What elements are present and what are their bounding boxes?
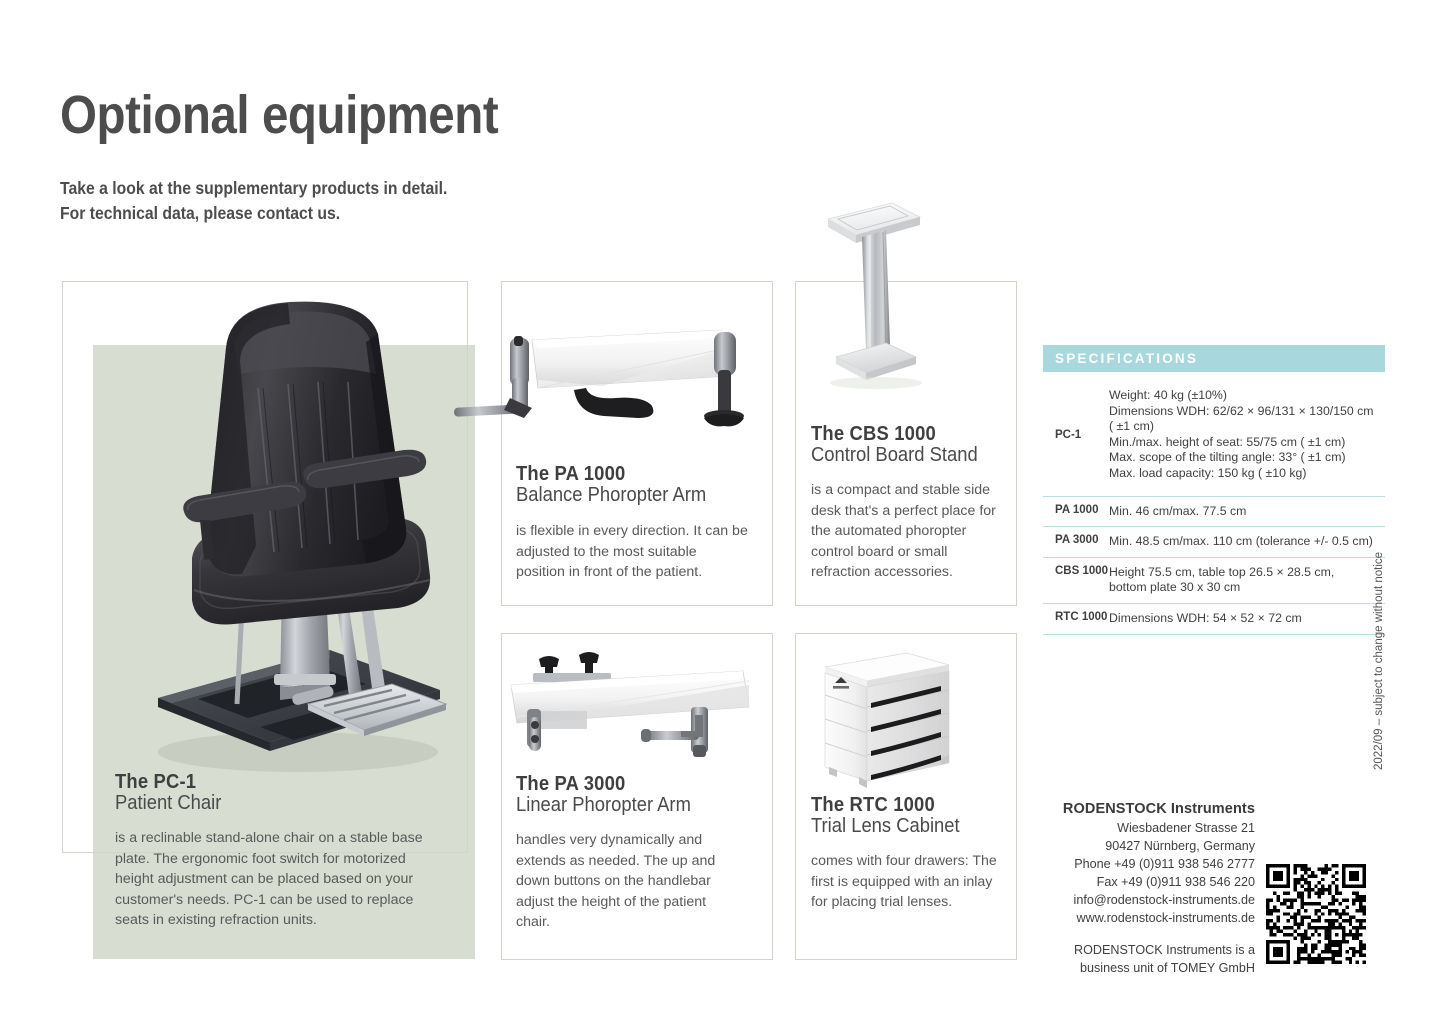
specifications-body: PC-1Weight: 40 kg (±10%)Dimensions WDH: … bbox=[1043, 372, 1385, 635]
spec-row-label: PA 1000 bbox=[1043, 504, 1109, 516]
contact-note-line-1: RODENSTOCK Instruments is a bbox=[1025, 941, 1255, 959]
product-description-pc1: is a reclinable stand-alone chair on a s… bbox=[115, 828, 445, 931]
product-description-cbs1000: is a compact and stable side desk that's… bbox=[811, 480, 1006, 583]
product-name-pa3000: The PA 3000 bbox=[516, 774, 691, 795]
contact-website[interactable]: www.rodenstock-instruments.de bbox=[1025, 909, 1255, 927]
product-subtitle-cbs1000: Control Board Stand bbox=[811, 445, 978, 466]
product-name-pa1000: The PA 1000 bbox=[516, 464, 706, 485]
contact-fax: Fax +49 (0)911 938 546 220 bbox=[1025, 873, 1255, 891]
contact-company: RODENSTOCK Instruments bbox=[1025, 800, 1255, 818]
control-board-stand-image bbox=[800, 197, 1000, 407]
product-title-pa1000: The PA 1000 Balance Phoropter Arm bbox=[516, 464, 706, 506]
spec-row-value: Min. 46 cm/max. 77.5 cm bbox=[1109, 504, 1385, 520]
linear-phoropter-arm-image bbox=[505, 645, 770, 765]
subtitle-line-1: Take a look at the supplementary product… bbox=[60, 176, 447, 201]
spec-row-label: RTC 1000 bbox=[1043, 611, 1109, 623]
spec-row-value: Dimensions WDH: 54 × 52 × 72 cm bbox=[1109, 611, 1385, 627]
spec-row: PA 1000Min. 46 cm/max. 77.5 cm bbox=[1043, 497, 1385, 528]
subtitle-line-2: For technical data, please contact us. bbox=[60, 201, 447, 226]
page-title: Optional equipment bbox=[60, 88, 498, 142]
patient-chair-image bbox=[130, 290, 460, 780]
spec-row-value: Height 75.5 cm, table top 26.5 × 28.5 cm… bbox=[1109, 565, 1385, 596]
spec-row-value: Weight: 40 kg (±10%)Dimensions WDH: 62/6… bbox=[1109, 388, 1385, 482]
spec-row-label: PA 3000 bbox=[1043, 534, 1109, 546]
spec-row-value: Min. 48.5 cm/max. 110 cm (tolerance +/- … bbox=[1109, 534, 1385, 550]
contact-spacer bbox=[1025, 927, 1255, 941]
product-name-pc1: The PC-1 bbox=[115, 772, 221, 793]
product-description-rtc1000: comes with four drawers: The first is eq… bbox=[811, 851, 1003, 913]
spec-row: CBS 1000Height 75.5 cm, table top 26.5 ×… bbox=[1043, 558, 1385, 604]
specifications-table: SPECIFICATIONS PC-1Weight: 40 kg (±10%)D… bbox=[1043, 345, 1385, 635]
product-title-pa3000: The PA 3000 Linear Phoropter Arm bbox=[516, 774, 691, 816]
product-title-cbs1000: The CBS 1000 Control Board Stand bbox=[811, 424, 978, 466]
contact-street: Wiesbadener Strasse 21 bbox=[1025, 819, 1255, 837]
trial-lens-cabinet-image bbox=[815, 645, 965, 790]
product-description-pa3000: handles very dynamically and extends as … bbox=[516, 830, 738, 933]
spec-row: PA 3000Min. 48.5 cm/max. 110 cm (toleran… bbox=[1043, 527, 1385, 558]
qr-code[interactable] bbox=[1266, 864, 1366, 964]
product-description-pa1000: is flexible in every direction. It can b… bbox=[516, 521, 748, 583]
specifications-header: SPECIFICATIONS bbox=[1043, 345, 1385, 372]
product-subtitle-pc1: Patient Chair bbox=[115, 793, 221, 814]
product-name-rtc1000: The RTC 1000 bbox=[811, 795, 960, 816]
product-title-pc1: The PC-1 Patient Chair bbox=[115, 772, 221, 814]
spec-row-label: CBS 1000 bbox=[1043, 565, 1109, 577]
product-subtitle-pa1000: Balance Phoropter Arm bbox=[516, 485, 706, 506]
contact-block: RODENSTOCK Instruments Wiesbadener Stras… bbox=[1025, 800, 1255, 977]
brochure-page: Optional equipment Take a look at the su… bbox=[0, 0, 1445, 1022]
product-subtitle-rtc1000: Trial Lens Cabinet bbox=[811, 816, 960, 837]
product-title-rtc1000: The RTC 1000 Trial Lens Cabinet bbox=[811, 795, 960, 837]
legal-notice: 2022/09 – subject to change without noti… bbox=[1373, 560, 1385, 770]
contact-email[interactable]: info@rodenstock-instruments.de bbox=[1025, 891, 1255, 909]
balance-phoropter-arm-image bbox=[452, 318, 772, 438]
contact-note-line-2: business unit of TOMEY GmbH bbox=[1025, 959, 1255, 977]
page-subtitle: Take a look at the supplementary product… bbox=[60, 176, 447, 226]
spec-row-label: PC-1 bbox=[1043, 429, 1109, 441]
contact-phone: Phone +49 (0)911 938 546 2777 bbox=[1025, 855, 1255, 873]
contact-city: 90427 Nürnberg, Germany bbox=[1025, 837, 1255, 855]
spec-row: PC-1Weight: 40 kg (±10%)Dimensions WDH: … bbox=[1043, 372, 1385, 497]
spec-row: RTC 1000Dimensions WDH: 54 × 52 × 72 cm bbox=[1043, 604, 1385, 635]
product-name-cbs1000: The CBS 1000 bbox=[811, 424, 978, 445]
product-subtitle-pa3000: Linear Phoropter Arm bbox=[516, 795, 691, 816]
